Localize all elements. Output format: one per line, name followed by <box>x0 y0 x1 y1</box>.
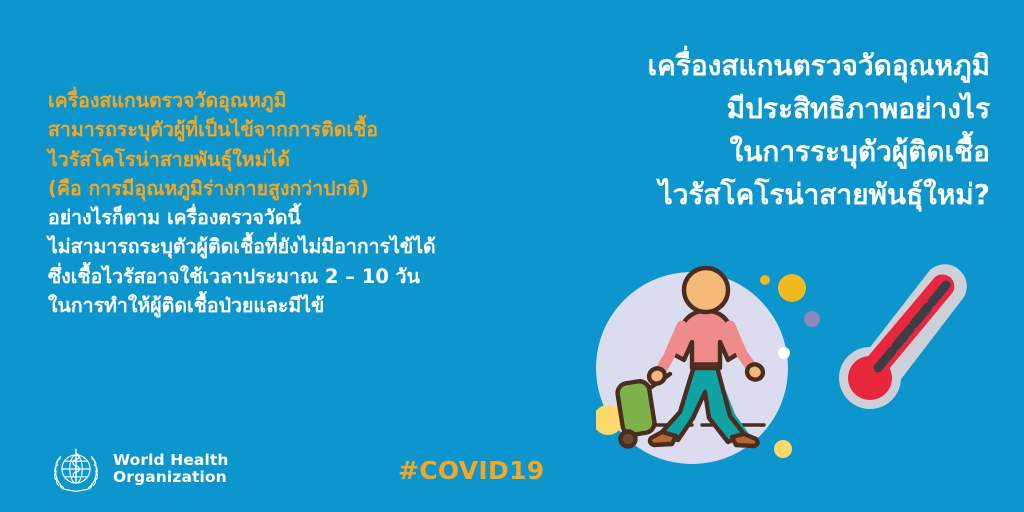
body-copy-block: เครื่องสแกนตรวจวัดอุณหภูมิ สามารถระบุตัว… <box>48 86 518 320</box>
dot-purple-icon <box>804 311 820 327</box>
dot-white-icon <box>778 347 790 359</box>
headline-line-4: ไวรัสโคโรน่าสายพันธุ์ใหม่? <box>520 173 990 216</box>
poster-canvas: เครื่องสแกนตรวจวัดอุณหภูมิ สามารถระบุตัว… <box>0 0 1024 512</box>
dot-gold-small-icon <box>760 275 770 285</box>
body-line-5: อย่างไรก็ตาม เครื่องตรวจวัดนี้ <box>48 203 518 232</box>
who-name-line-1: World Health <box>113 452 229 470</box>
illustration-area <box>596 250 1016 490</box>
body-line-8: ในการทำให้ผู้ติดเชื้อป่วยและมีไข้ <box>48 291 518 320</box>
traveler-head-icon <box>684 268 728 312</box>
who-name-line-2: Organization <box>113 469 229 487</box>
body-line-4: (คือ การมีอุณหภูมิร่างกายสูงกว่าปกติ) <box>48 174 518 203</box>
headline-line-1: เครื่องสแกนตรวจวัดอุณหภูมิ <box>520 44 990 87</box>
headline-line-3: ในการระบุตัวผู้ติดเชื้อ <box>520 130 990 173</box>
body-line-6: ไม่สามารถระบุตัวผู้ติดเชื้อที่ยังไม่มีอา… <box>48 232 518 261</box>
body-line-2: สามารถระบุตัวผู้ที่เป็นไข้จากการติดเชื้อ <box>48 115 518 144</box>
body-line-7: ซึ่งเชื้อไวรัสอาจใช้เวลาประมาณ 2 – 10 วั… <box>48 262 518 291</box>
who-emblem-icon <box>50 443 102 495</box>
body-line-3: ไวรัสโคโรน่าสายพันธุ์ใหม่ได้ <box>48 145 518 174</box>
hashtag-covid19: #COVID19 <box>398 456 544 485</box>
who-logo: World Health Organization <box>50 443 229 495</box>
headline-block: เครื่องสแกนตรวจวัดอุณหภูมิ มีประสิทธิภาพ… <box>520 44 990 216</box>
headline-line-2: มีประสิทธิภาพอย่างไร <box>520 87 990 130</box>
body-line-1: เครื่องสแกนตรวจวัดอุณหภูมิ <box>48 86 518 115</box>
thermometer-icon <box>839 264 967 409</box>
dot-gold-large-icon <box>778 274 806 302</box>
who-wordmark: World Health Organization <box>113 452 229 487</box>
dot-yellow-lower-icon <box>774 440 792 458</box>
